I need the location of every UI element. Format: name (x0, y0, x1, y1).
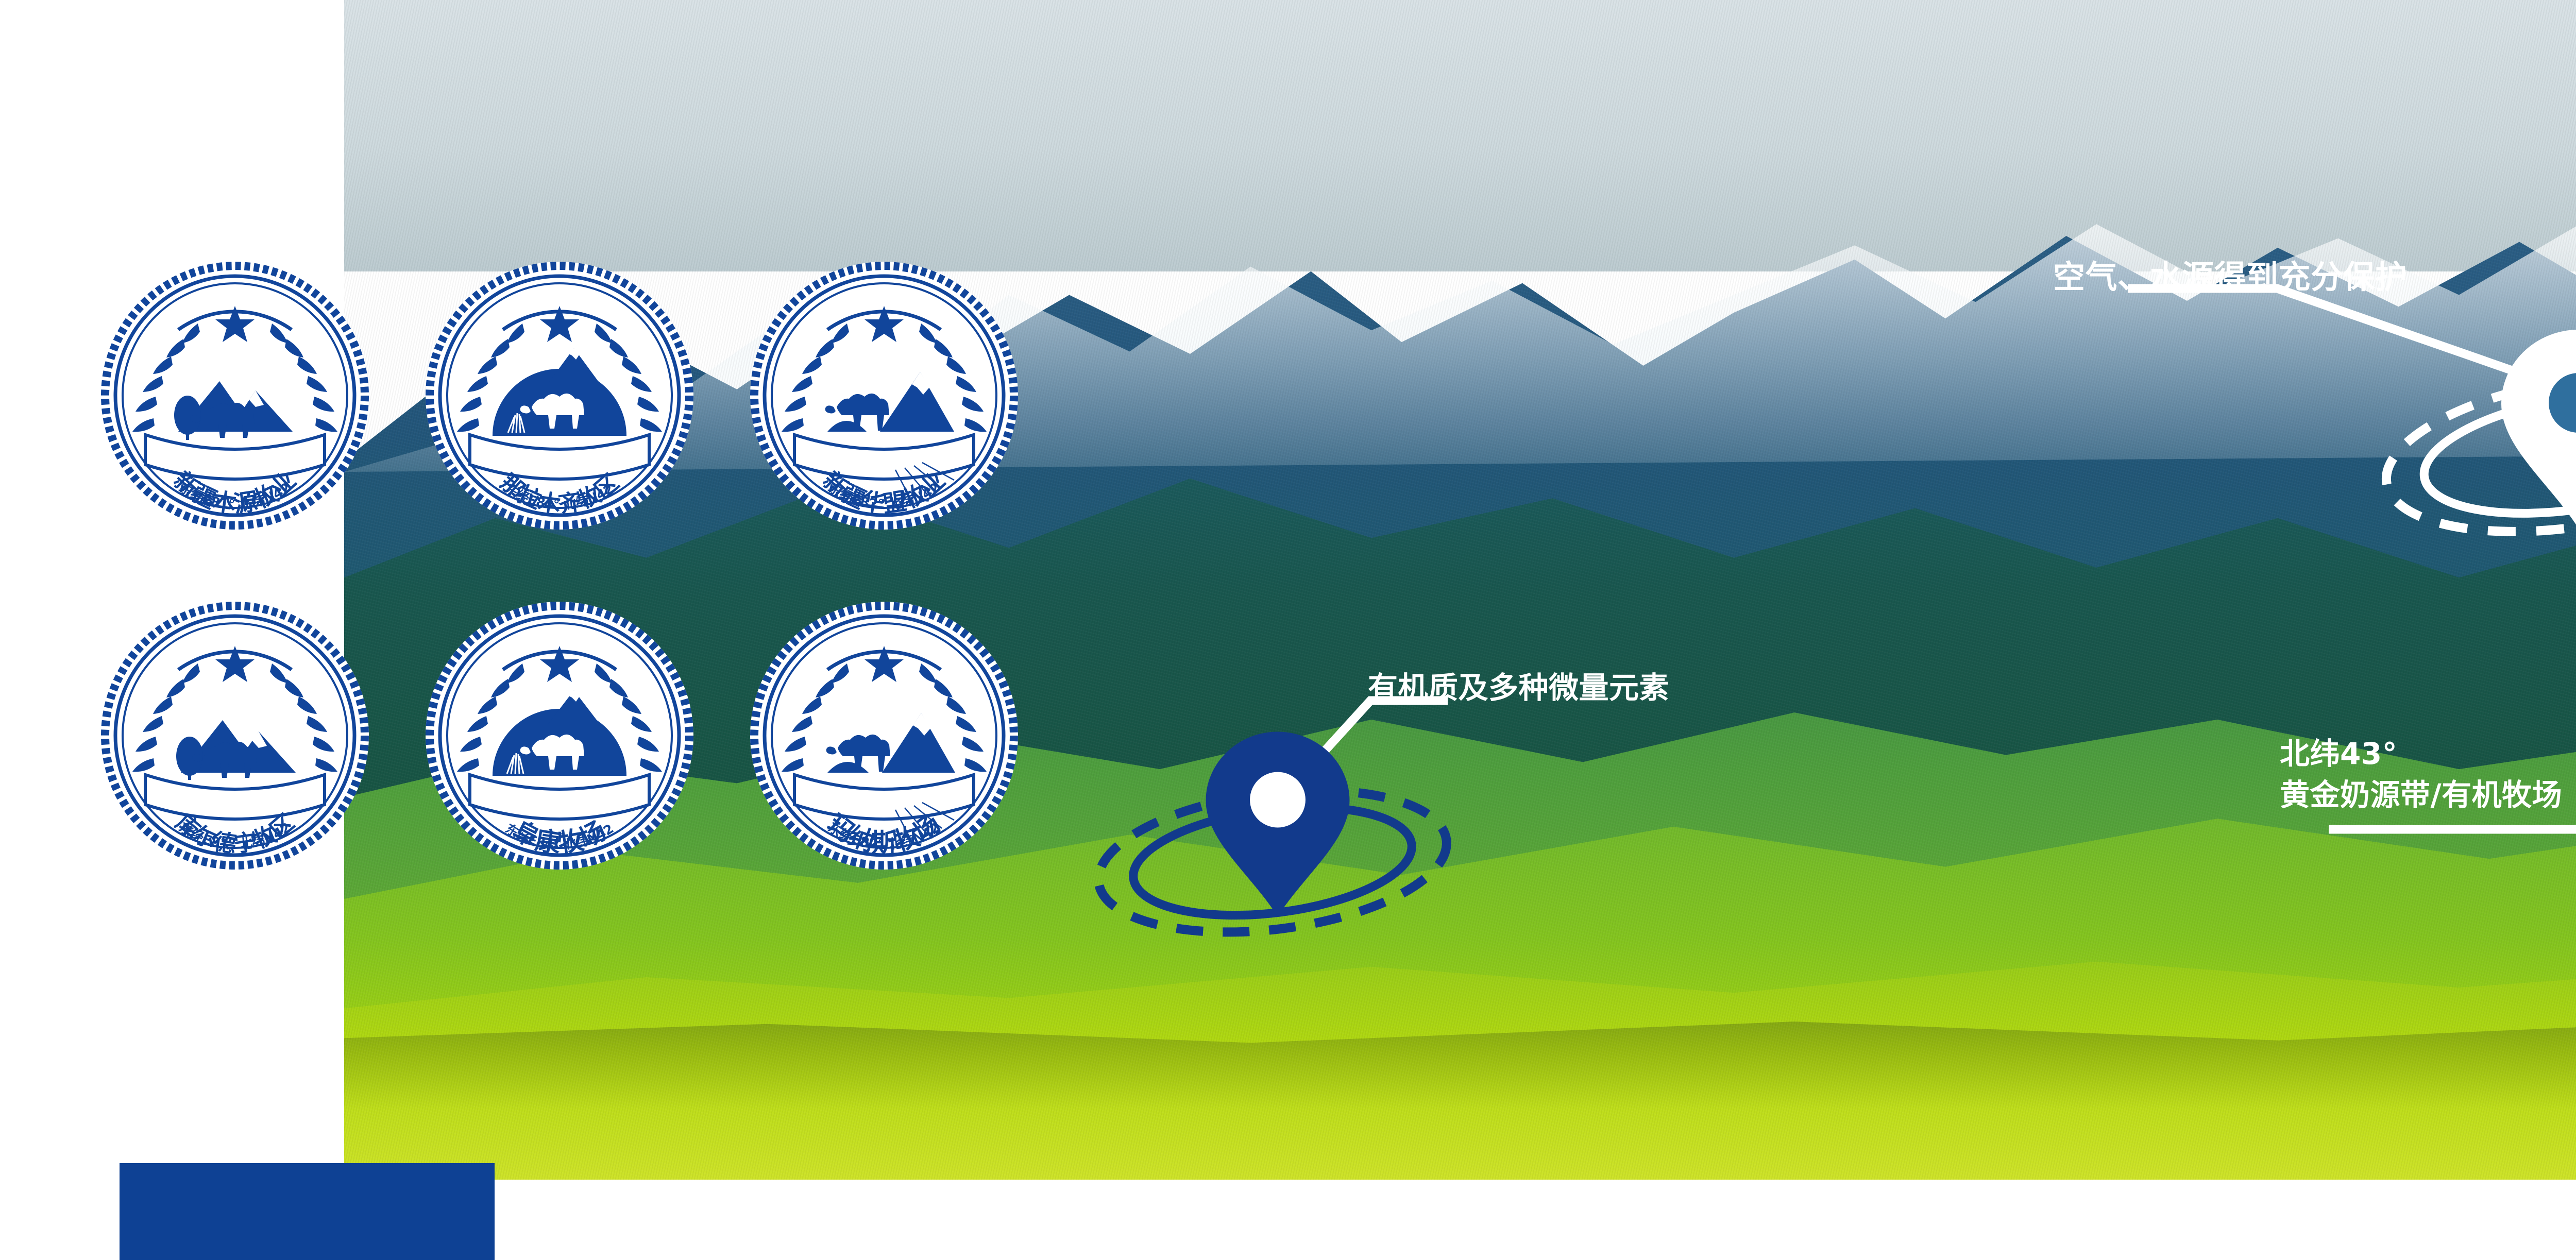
pin-latitude-label-line2: 黄金奶源带/有机牧场 (2280, 777, 2562, 814)
pin-latitude-label-line1: 北纬43° (2280, 736, 2397, 773)
pasture-badge-1[interactable]: 新疆本源牧业 东经E81° 北纬N42 (101, 262, 369, 530)
pin-organic-matter-group[interactable] (1090, 701, 1454, 950)
pin-air-water-connector (2128, 288, 2540, 380)
pin-air-water-group[interactable] (2128, 288, 2576, 555)
pasture-badge-2[interactable]: 那拉木齐牧区 东经E84° 北纬N42 海拔1387.68米 (426, 262, 693, 530)
pin-latitude-group[interactable] (2329, 829, 2576, 1104)
pasture-badge-3[interactable]: 新疆华盟牧业 东经E82° 北纬N42 (750, 262, 1018, 530)
pin-air-water-label: 空气、水源得到充分保护 (2053, 258, 2408, 297)
banner-stage: 空气、水源得到充分保护 有机质及多种微量元素 北纬43° 黄金奶源带/有机牧场 (0, 0, 2576, 1260)
pin-organic-matter-label: 有机质及多种微量元素 (1368, 670, 1669, 707)
pin-organic-matter-marker[interactable] (1206, 732, 1350, 917)
decorative-blue-block (120, 1163, 495, 1260)
pasture-badge-4[interactable]: 库尔德宁牧区 东经E81° 北纬N42 (101, 602, 369, 870)
pasture-badge-grid: 新疆本源牧业 东经E81° 北纬N42 (101, 262, 1018, 870)
pin-organic-matter-connector (1319, 701, 1448, 757)
pin-air-water-marker[interactable] (2501, 330, 2576, 529)
pasture-badge-6[interactable]: 玛纳斯牧场 东经E82° 北纬N42 (750, 602, 1018, 870)
pasture-badge-5[interactable]: 阜康牧场 东经E84° 北纬N42 海拔1387.68米 (426, 602, 693, 870)
pin-latitude-connector (2329, 829, 2576, 907)
